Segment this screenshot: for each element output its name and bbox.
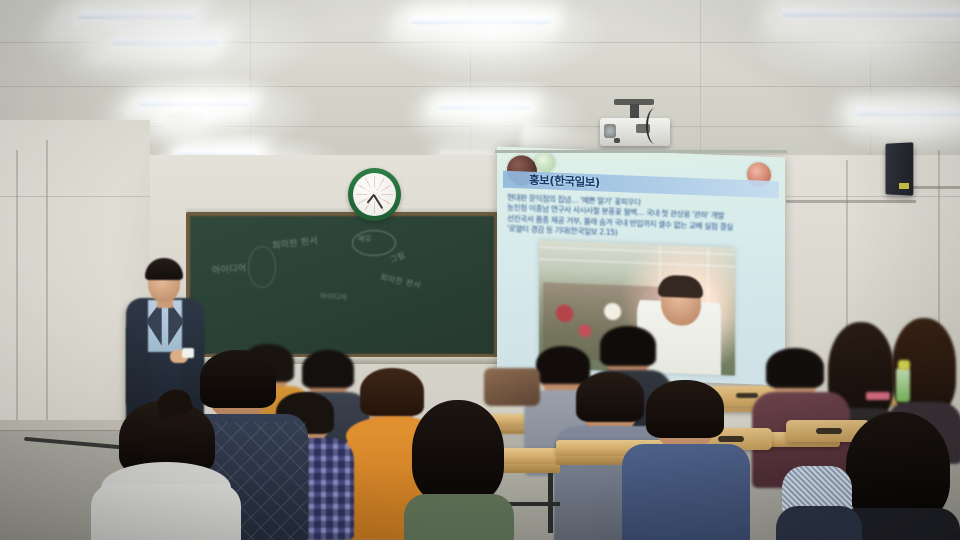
presenter-left-arm (126, 320, 150, 412)
fluorescent-tube (411, 16, 553, 24)
speaker-label-tag (899, 183, 909, 189)
leaf-logo-icon (535, 152, 555, 173)
chalk-text: 아이디어 (320, 291, 347, 302)
photo-researcher-hair (658, 275, 703, 299)
slide-title: 홍보(한국일보) (529, 172, 600, 192)
presenter-remote (182, 348, 194, 358)
hair (766, 348, 824, 388)
greenhouse-beam (539, 246, 735, 256)
classroom-photo: 희미한 판서 아이디어 메모 그림 희미한 판서 아이디어 홍보(한국일보 (0, 0, 960, 540)
wall-seam (16, 150, 18, 430)
torso (91, 484, 241, 540)
chalk-text: 그림 (388, 250, 406, 266)
wall-clock (348, 168, 401, 221)
wall-seam (46, 140, 48, 430)
chalk-text: 아이디어 (212, 261, 247, 276)
chalk-text: 희미한 판서 (271, 233, 318, 252)
projector-lens (604, 124, 616, 138)
chalk-text: 희미한 판서 (379, 272, 422, 291)
hair (360, 368, 424, 416)
greenhouse-beam (539, 258, 735, 268)
hair (576, 372, 644, 422)
wall-panel-line (786, 196, 960, 197)
water-bottle (896, 368, 910, 402)
chair-handle-slot (736, 393, 758, 398)
wall-rail (786, 200, 916, 203)
wall-panel-line (0, 196, 150, 197)
chalk-text: 메모 (358, 234, 371, 244)
screen-top-edge (495, 150, 787, 153)
fluorescent-tube (855, 108, 960, 116)
slide-body-text: 현대판 문익점의 집념… '예쁜 딸기' 꽃피우다 농진청 이종남 연구사 사시… (507, 193, 779, 245)
fluorescent-tube (110, 36, 222, 45)
hair (600, 326, 656, 366)
backpack (484, 368, 540, 406)
chalkboard: 희미한 판서 아이디어 메모 그림 희미한 판서 아이디어 (190, 216, 494, 354)
bottle-cap (898, 360, 910, 370)
chalk-circle (248, 246, 276, 288)
fluorescent-tube (139, 99, 252, 106)
ceiling-tile-line (700, 0, 701, 172)
torso (776, 506, 862, 540)
ceiling-tile-line (0, 86, 960, 87)
chair-handle-slot (816, 428, 842, 434)
chair-handle-slot (718, 436, 744, 442)
fluorescent-tube (781, 8, 960, 17)
light-fixture (163, 113, 204, 129)
hair (412, 400, 504, 504)
hair (646, 380, 724, 438)
hair (302, 350, 354, 388)
fluorescent-tube (438, 103, 533, 109)
clock-face (353, 173, 396, 216)
hair (200, 350, 276, 408)
torso (404, 494, 514, 540)
projector-vent (614, 138, 620, 143)
projector-cable (646, 108, 664, 144)
torso (622, 444, 750, 540)
hair (536, 346, 590, 384)
notebook (866, 392, 890, 400)
fluorescent-tube (76, 10, 198, 19)
ceiling-tile-line (250, 0, 251, 172)
